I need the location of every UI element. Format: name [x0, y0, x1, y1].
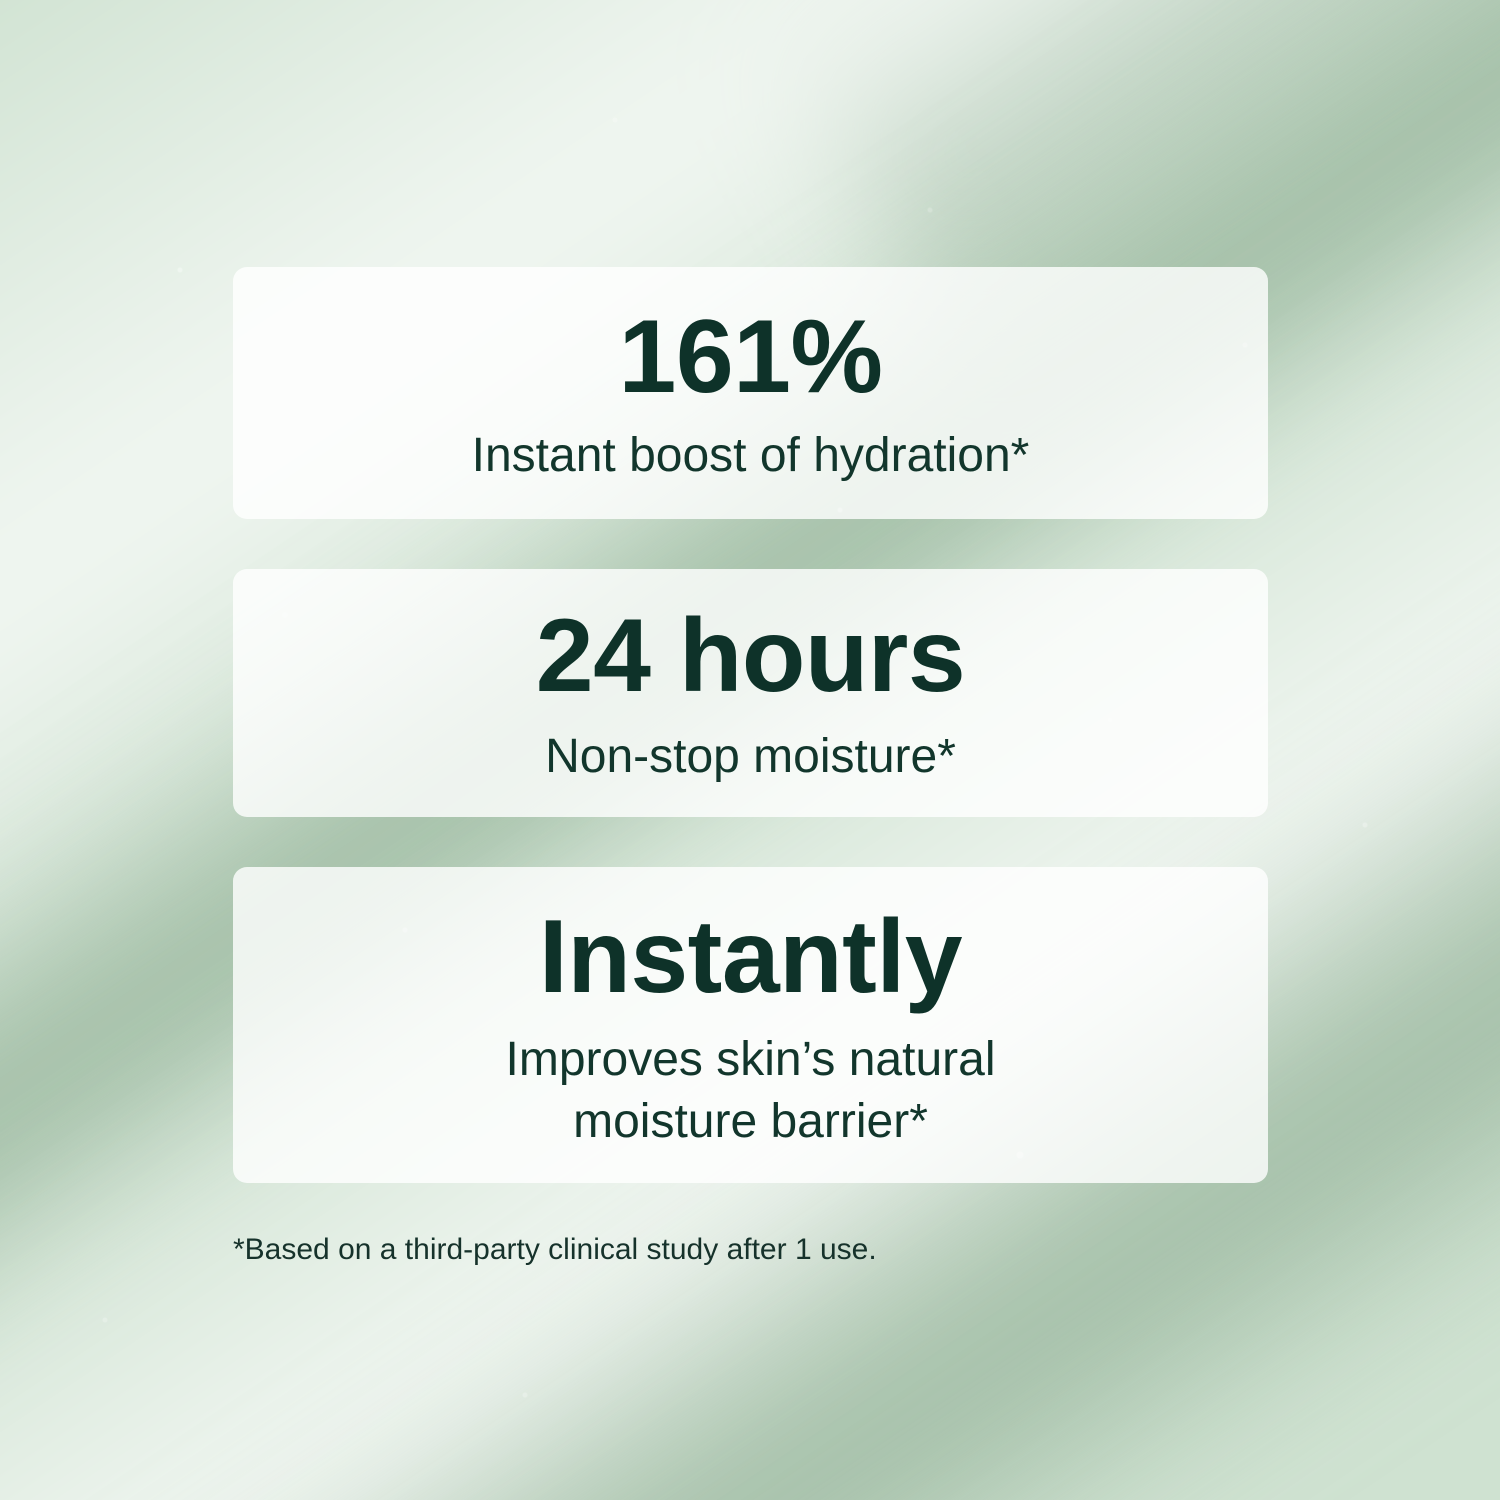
claim-card-moisture-barrier: Instantly Improves skin’s natural moistu…: [233, 867, 1268, 1183]
claim-subline-line: Improves skin’s natural: [506, 1029, 996, 1091]
claim-subline: Improves skin’s natural moisture barrier…: [506, 1029, 996, 1154]
claim-subline-line: Non-stop moisture*: [545, 726, 956, 788]
claim-subline: Non-stop moisture*: [545, 726, 956, 788]
claim-card-hydration-boost: 161% Instant boost of hydration*: [233, 267, 1268, 519]
claim-headline: 24 hours: [536, 604, 965, 708]
claim-card-non-stop-moisture: 24 hours Non-stop moisture*: [233, 569, 1268, 817]
disclaimer-footnote: *Based on a third-party clinical study a…: [233, 1233, 877, 1267]
claims-infographic: 161% Instant boost of hydration* 24 hour…: [0, 0, 1500, 1500]
claim-subline-line: moisture barrier*: [506, 1091, 996, 1153]
claim-subline: Instant boost of hydration*: [472, 425, 1030, 487]
claim-subline-line: Instant boost of hydration*: [472, 425, 1030, 487]
claim-headline: 161%: [619, 305, 883, 409]
claim-card-list: 161% Instant boost of hydration* 24 hour…: [233, 267, 1268, 1183]
claim-headline: Instantly: [539, 905, 962, 1009]
